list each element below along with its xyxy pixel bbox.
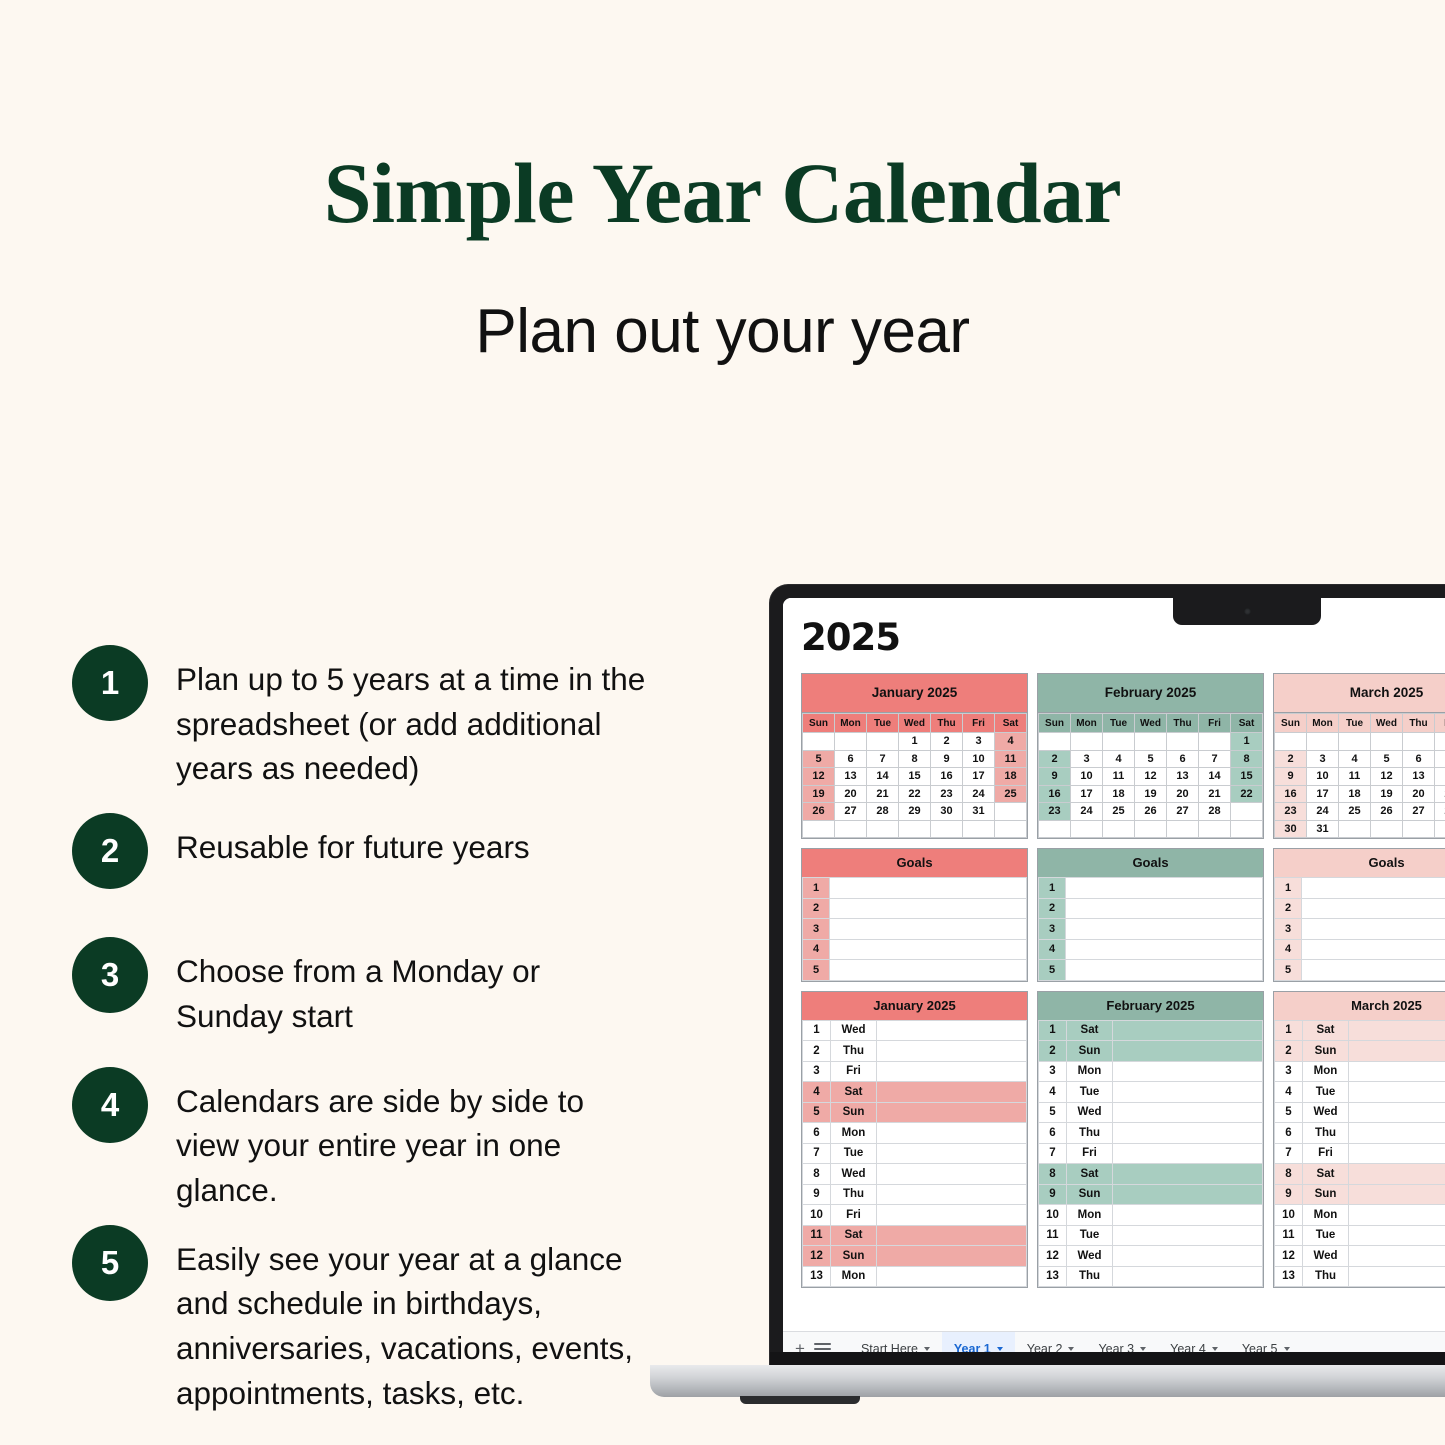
daylist-table: 1Sat2Sun3Mon4Tue5Wed6Thu7Fri8Sat9Sun10Mo… xyxy=(1274,1020,1445,1288)
daylist-note-cell[interactable] xyxy=(1113,1143,1263,1164)
daylist-date: 8 xyxy=(803,1164,831,1185)
date-cell[interactable]: 1 xyxy=(899,733,931,751)
daylist-note-cell[interactable] xyxy=(1349,1061,1445,1082)
daylist-note-cell[interactable] xyxy=(1113,1205,1263,1226)
daylist-date: 11 xyxy=(1275,1225,1303,1246)
daylist-table: 1Wed2Thu3Fri4Sat5Sun6Mon7Tue8Wed9Thu10Fr… xyxy=(802,1020,1027,1288)
daylist-note-cell[interactable] xyxy=(877,1205,1027,1226)
feature-number-badge: 3 xyxy=(72,937,148,1013)
daylist-weekday: Fri xyxy=(1303,1143,1349,1164)
daylist-row: 4Tue xyxy=(1275,1082,1445,1103)
date-cell[interactable]: 30 xyxy=(1275,820,1307,838)
date-cell[interactable]: 14 xyxy=(867,768,899,786)
month-daylist-card: January 20251Wed2Thu3Fri4Sat5Sun6Mon7Tue… xyxy=(801,991,1028,1289)
date-cell[interactable]: 23 xyxy=(931,785,963,803)
date-cell[interactable]: 24 xyxy=(1071,803,1103,821)
date-cell[interactable]: 17 xyxy=(1071,785,1103,803)
daylist-note-cell[interactable] xyxy=(1349,1266,1445,1287)
date-cell[interactable]: 28 xyxy=(1435,803,1445,821)
daylist-note-cell[interactable] xyxy=(1113,1061,1263,1082)
weekday-header: Tue xyxy=(867,714,899,733)
feature-item-4: 4Calendars are side by side to view your… xyxy=(72,1067,672,1213)
date-cell[interactable]: 14 xyxy=(1199,768,1231,786)
daylist-note-cell[interactable] xyxy=(877,1225,1027,1246)
daylist-row: 8Sat xyxy=(1039,1164,1263,1185)
feature-item-3: 3Choose from a Monday or Sunday start xyxy=(72,937,672,1038)
date-cell[interactable]: 14 xyxy=(1435,768,1445,786)
weekday-header: Sun xyxy=(1275,714,1307,733)
date-cell[interactable]: 9 xyxy=(1275,768,1307,786)
goal-input-cell[interactable] xyxy=(1066,939,1263,960)
daylist-weekday: Tue xyxy=(1067,1082,1113,1103)
date-cell[interactable] xyxy=(1071,820,1103,838)
daylist-note-cell[interactable] xyxy=(1349,1246,1445,1267)
goals-row: 2 xyxy=(803,898,1027,919)
daylist-row: 6Mon xyxy=(803,1123,1027,1144)
date-cell[interactable]: 6 xyxy=(1167,750,1199,768)
daylist-date: 3 xyxy=(803,1061,831,1082)
daylist-row: 11Sat xyxy=(803,1225,1027,1246)
daylist-date: 10 xyxy=(1039,1205,1067,1226)
date-cell[interactable]: 15 xyxy=(1231,768,1263,786)
month-calendar-card: March 2025SunMonTueWedThuFriSat123456789… xyxy=(1273,673,1445,839)
date-cell[interactable] xyxy=(803,733,835,751)
sheet-canvas[interactable]: 2025 January 2025SunMonTueWedThuFriSat12… xyxy=(783,598,1445,1331)
date-cell[interactable]: 20 xyxy=(1403,785,1435,803)
date-cell[interactable] xyxy=(1135,820,1167,838)
daylist-date: 13 xyxy=(1039,1266,1067,1287)
goal-number: 5 xyxy=(1039,960,1066,981)
daylist-weekday: Fri xyxy=(1067,1143,1113,1164)
month-grid: SunMonTueWedThuFriSat1234567891011121314… xyxy=(802,713,1027,838)
daylist-row: 1Wed xyxy=(803,1020,1027,1041)
feature-number-badge: 2 xyxy=(72,813,148,889)
date-cell[interactable] xyxy=(1435,733,1445,751)
daylist-weekday: Fri xyxy=(831,1205,877,1226)
date-cell[interactable]: 29 xyxy=(899,803,931,821)
date-cell[interactable]: 27 xyxy=(1403,803,1435,821)
date-cell[interactable] xyxy=(1103,820,1135,838)
date-cell[interactable] xyxy=(1339,733,1371,751)
date-cell[interactable] xyxy=(835,733,867,751)
date-cell[interactable]: 26 xyxy=(1371,803,1403,821)
daylist-date: 12 xyxy=(803,1246,831,1267)
weekday-header: Mon xyxy=(835,714,867,733)
weekday-header: Sun xyxy=(803,714,835,733)
daylist-date: 1 xyxy=(1275,1020,1303,1041)
goal-input-cell[interactable] xyxy=(1302,878,1445,899)
goal-number: 3 xyxy=(1275,919,1302,940)
daylist-weekday: Sat xyxy=(1067,1164,1113,1185)
daylist-row: 9Sun xyxy=(1275,1184,1445,1205)
daylist-date: 2 xyxy=(1039,1041,1067,1062)
daylist-title: January 2025 xyxy=(802,992,1027,1020)
date-cell[interactable]: 9 xyxy=(931,750,963,768)
chevron-down-icon[interactable] xyxy=(924,1347,930,1351)
daylist-note-cell[interactable] xyxy=(1113,1082,1263,1103)
feature-text: Calendars are side by side to view your … xyxy=(176,1067,646,1213)
date-cell[interactable]: 3 xyxy=(963,733,995,751)
date-cell[interactable]: 3 xyxy=(1071,750,1103,768)
date-cell[interactable]: 27 xyxy=(1167,803,1199,821)
daylist-note-cell[interactable] xyxy=(1113,1123,1263,1144)
date-cell[interactable]: 9 xyxy=(1039,768,1071,786)
daylist-weekday: Wed xyxy=(1303,1102,1349,1123)
date-cell[interactable]: 31 xyxy=(963,803,995,821)
month-title: March 2025 xyxy=(1274,674,1445,713)
daylist-weekday: Wed xyxy=(831,1164,877,1185)
goals-row: 5 xyxy=(1275,960,1445,981)
feature-text: Reusable for future years xyxy=(176,813,530,870)
date-cell[interactable] xyxy=(1231,820,1263,838)
daylist-weekday: Thu xyxy=(831,1184,877,1205)
date-cell[interactable]: 20 xyxy=(1167,785,1199,803)
daylist-date: 6 xyxy=(1039,1123,1067,1144)
date-cell[interactable] xyxy=(963,820,995,838)
daylist-note-cell[interactable] xyxy=(1349,1020,1445,1041)
date-cell[interactable]: 15 xyxy=(899,768,931,786)
daylist-date: 3 xyxy=(1275,1061,1303,1082)
date-cell[interactable]: 21 xyxy=(867,785,899,803)
goal-number: 1 xyxy=(803,878,830,899)
date-cell[interactable]: 5 xyxy=(1371,750,1403,768)
date-cell[interactable]: 13 xyxy=(835,768,867,786)
date-cell[interactable]: 25 xyxy=(1103,803,1135,821)
date-cell[interactable] xyxy=(1135,733,1167,751)
goals-row: 2 xyxy=(1275,898,1445,919)
date-cell[interactable]: 16 xyxy=(931,768,963,786)
daylist-note-cell[interactable] xyxy=(877,1184,1027,1205)
daylist-weekday: Thu xyxy=(1067,1123,1113,1144)
goal-input-cell[interactable] xyxy=(830,939,1027,960)
daylist-date: 5 xyxy=(803,1102,831,1123)
goal-input-cell[interactable] xyxy=(1066,898,1263,919)
daylist-note-cell[interactable] xyxy=(1349,1164,1445,1185)
daylist-note-cell[interactable] xyxy=(877,1246,1027,1267)
laptop-base xyxy=(650,1365,1445,1397)
date-cell[interactable]: 19 xyxy=(1135,785,1167,803)
goal-input-cell[interactable] xyxy=(1066,960,1263,981)
daylist-title: February 2025 xyxy=(1038,992,1263,1020)
daylist-note-cell[interactable] xyxy=(877,1123,1027,1144)
date-cell[interactable]: 6 xyxy=(835,750,867,768)
date-cell[interactable]: 5 xyxy=(1135,750,1167,768)
date-cell[interactable]: 13 xyxy=(1403,768,1435,786)
daylist-table: 1Sat2Sun3Mon4Tue5Wed6Thu7Fri8Sat9Sun10Mo… xyxy=(1038,1020,1263,1288)
feature-text: Plan up to 5 years at a time in the spre… xyxy=(176,645,646,791)
date-cell[interactable] xyxy=(1339,820,1371,838)
goal-input-cell[interactable] xyxy=(830,898,1027,919)
date-cell[interactable] xyxy=(1039,820,1071,838)
daylist-date: 11 xyxy=(1039,1225,1067,1246)
daylist-note-cell[interactable] xyxy=(877,1061,1027,1082)
date-cell[interactable]: 5 xyxy=(803,750,835,768)
daylist-row: 1Sat xyxy=(1275,1020,1445,1041)
date-cell[interactable]: 19 xyxy=(1371,785,1403,803)
date-cell[interactable]: 2 xyxy=(931,733,963,751)
date-cell[interactable]: 13 xyxy=(1167,768,1199,786)
daylist-weekday: Sat xyxy=(831,1082,877,1103)
date-cell[interactable]: 16 xyxy=(1039,785,1071,803)
goals-title: Goals xyxy=(802,849,1027,877)
goal-input-cell[interactable] xyxy=(1302,939,1445,960)
daylist-row: 12Sun xyxy=(803,1246,1027,1267)
daylist-date: 8 xyxy=(1039,1164,1067,1185)
year-heading: 2025 xyxy=(801,616,1445,659)
chevron-down-icon[interactable] xyxy=(1140,1347,1146,1351)
daylist-note-cell[interactable] xyxy=(1113,1225,1263,1246)
date-cell[interactable] xyxy=(1167,820,1199,838)
weekday-header: Sat xyxy=(1231,714,1263,733)
goals-row: 4 xyxy=(803,939,1027,960)
date-cell[interactable]: 4 xyxy=(1339,750,1371,768)
date-cell[interactable] xyxy=(995,820,1027,838)
feature-number-badge: 1 xyxy=(72,645,148,721)
daylist-row: 7Fri xyxy=(1275,1143,1445,1164)
date-cell[interactable]: 7 xyxy=(1435,750,1445,768)
daylist-date: 1 xyxy=(1039,1020,1067,1041)
goal-number: 4 xyxy=(1039,939,1066,960)
date-cell[interactable] xyxy=(1167,733,1199,751)
weekday-header: Sat xyxy=(995,714,1027,733)
goal-input-cell[interactable] xyxy=(1302,898,1445,919)
daylist-note-cell[interactable] xyxy=(877,1082,1027,1103)
daylist-weekday: Thu xyxy=(1303,1266,1349,1287)
daylist-note-cell[interactable] xyxy=(1349,1225,1445,1246)
date-cell[interactable] xyxy=(1275,733,1307,751)
daylist-date: 13 xyxy=(1275,1266,1303,1287)
date-cell[interactable]: 25 xyxy=(1339,803,1371,821)
daylist-note-cell[interactable] xyxy=(877,1041,1027,1062)
page-title: Simple Year Calendar xyxy=(0,148,1445,238)
daylist-date: 9 xyxy=(1039,1184,1067,1205)
date-cell[interactable] xyxy=(1199,733,1231,751)
goal-input-cell[interactable] xyxy=(1302,960,1445,981)
date-cell[interactable]: 10 xyxy=(963,750,995,768)
daylist-row: 3Mon xyxy=(1275,1061,1445,1082)
date-cell[interactable] xyxy=(867,820,899,838)
date-cell[interactable]: 27 xyxy=(835,803,867,821)
daylist-note-cell[interactable] xyxy=(1113,1266,1263,1287)
daylist-note-cell[interactable] xyxy=(1113,1020,1263,1041)
goals-table: 12345 xyxy=(802,877,1027,981)
daylist-note-cell[interactable] xyxy=(1113,1184,1263,1205)
goal-number: 1 xyxy=(1275,878,1302,899)
goal-input-cell[interactable] xyxy=(830,960,1027,981)
daylist-date: 7 xyxy=(803,1143,831,1164)
date-cell[interactable]: 22 xyxy=(1231,785,1263,803)
date-cell[interactable]: 6 xyxy=(1403,750,1435,768)
daylist-row: 3Fri xyxy=(803,1061,1027,1082)
daylist-note-cell[interactable] xyxy=(877,1266,1027,1287)
daylist-note-cell[interactable] xyxy=(1349,1205,1445,1226)
daylist-date: 2 xyxy=(1275,1041,1303,1062)
daylist-date: 7 xyxy=(1275,1143,1303,1164)
daylist-note-cell[interactable] xyxy=(1113,1246,1263,1267)
daylist-weekday: Wed xyxy=(1067,1246,1113,1267)
date-cell[interactable]: 12 xyxy=(803,768,835,786)
date-cell[interactable]: 4 xyxy=(1103,750,1135,768)
date-cell[interactable] xyxy=(1307,733,1339,751)
daylist-row: 13Thu xyxy=(1039,1266,1263,1287)
daylist-note-cell[interactable] xyxy=(877,1164,1027,1185)
weekday-header: Thu xyxy=(931,714,963,733)
feature-number-badge: 5 xyxy=(72,1225,148,1301)
date-cell[interactable]: 11 xyxy=(1103,768,1135,786)
goal-input-cell[interactable] xyxy=(830,919,1027,940)
daylist-weekday: Sat xyxy=(1303,1164,1349,1185)
date-cell[interactable]: 4 xyxy=(995,733,1027,751)
goal-input-cell[interactable] xyxy=(1066,919,1263,940)
date-cell[interactable] xyxy=(1103,733,1135,751)
weekday-header: Fri xyxy=(1435,714,1445,733)
daylist-row: 13Thu xyxy=(1275,1266,1445,1287)
goal-input-cell[interactable] xyxy=(1066,878,1263,899)
date-cell[interactable]: 31 xyxy=(1307,820,1339,838)
date-cell[interactable]: 2 xyxy=(1275,750,1307,768)
date-cell[interactable]: 20 xyxy=(835,785,867,803)
daylist-note-cell[interactable] xyxy=(1349,1102,1445,1123)
date-cell[interactable]: 23 xyxy=(1039,803,1071,821)
spreadsheet-app: 2025 January 2025SunMonTueWedThuFriSat12… xyxy=(783,598,1445,1365)
date-cell[interactable]: 2 xyxy=(1039,750,1071,768)
date-cell[interactable] xyxy=(1435,820,1445,838)
date-cell[interactable]: 21 xyxy=(1199,785,1231,803)
date-cell[interactable] xyxy=(931,820,963,838)
date-cell[interactable] xyxy=(1231,803,1263,821)
daylist-note-cell[interactable] xyxy=(877,1143,1027,1164)
weekday-header: Fri xyxy=(1199,714,1231,733)
feature-number-badge: 4 xyxy=(72,1067,148,1143)
date-cell[interactable]: 21 xyxy=(1435,785,1445,803)
daylist-weekday: Sat xyxy=(1303,1020,1349,1041)
date-cell[interactable]: 11 xyxy=(1339,768,1371,786)
date-cell[interactable] xyxy=(1071,733,1103,751)
daylist-date: 13 xyxy=(803,1266,831,1287)
date-cell[interactable] xyxy=(1371,733,1403,751)
date-cell[interactable]: 24 xyxy=(963,785,995,803)
date-cell[interactable]: 12 xyxy=(1371,768,1403,786)
date-cell[interactable]: 18 xyxy=(995,768,1027,786)
daylist-row: 7Tue xyxy=(803,1143,1027,1164)
date-cell[interactable]: 7 xyxy=(867,750,899,768)
date-cell[interactable]: 18 xyxy=(1339,785,1371,803)
feature-list: 1Plan up to 5 years at a time in the spr… xyxy=(72,645,672,1434)
daylist-date: 5 xyxy=(1275,1102,1303,1123)
date-cell[interactable]: 7 xyxy=(1199,750,1231,768)
goals-row: 2 xyxy=(1039,898,1263,919)
chevron-down-icon[interactable] xyxy=(1212,1347,1218,1351)
camera-icon xyxy=(1244,608,1251,615)
date-cell[interactable]: 22 xyxy=(899,785,931,803)
month-calendar-card: January 2025SunMonTueWedThuFriSat1234567… xyxy=(801,673,1028,839)
daylist-row: 3Mon xyxy=(1039,1061,1263,1082)
daylist-row: 5Wed xyxy=(1039,1102,1263,1123)
goals-band: Goals12345Goals12345Goals12345 xyxy=(801,848,1445,982)
daylist-note-cell[interactable] xyxy=(1113,1164,1263,1185)
calendar-band: January 2025SunMonTueWedThuFriSat1234567… xyxy=(801,673,1445,839)
daylist-date: 4 xyxy=(803,1082,831,1103)
month-grid: SunMonTueWedThuFriSat1234567891011121314… xyxy=(1274,713,1445,838)
date-cell[interactable]: 16 xyxy=(1275,785,1307,803)
month-title: January 2025 xyxy=(802,674,1027,713)
date-cell[interactable]: 26 xyxy=(1135,803,1167,821)
date-cell[interactable]: 18 xyxy=(1103,785,1135,803)
daylist-note-cell[interactable] xyxy=(1349,1143,1445,1164)
date-cell[interactable] xyxy=(1403,733,1435,751)
date-cell[interactable]: 8 xyxy=(1231,750,1263,768)
weekday-header: Tue xyxy=(1103,714,1135,733)
daylist-note-cell[interactable] xyxy=(1349,1123,1445,1144)
date-cell[interactable] xyxy=(1403,820,1435,838)
daylist-row: 10Fri xyxy=(803,1205,1027,1226)
chevron-down-icon[interactable] xyxy=(997,1347,1003,1351)
chevron-down-icon[interactable] xyxy=(1284,1347,1290,1351)
date-cell[interactable] xyxy=(1371,820,1403,838)
date-cell[interactable] xyxy=(803,820,835,838)
date-cell[interactable]: 10 xyxy=(1071,768,1103,786)
date-cell[interactable] xyxy=(867,733,899,751)
month-grid: SunMonTueWedThuFriSat1234567891011121314… xyxy=(1038,713,1263,838)
daylist-row: 4Tue xyxy=(1039,1082,1263,1103)
date-cell[interactable]: 28 xyxy=(867,803,899,821)
date-cell[interactable]: 10 xyxy=(1307,768,1339,786)
daylist-note-cell[interactable] xyxy=(1349,1082,1445,1103)
date-cell[interactable]: 1 xyxy=(1231,733,1263,751)
weekday-header: Thu xyxy=(1403,714,1435,733)
date-cell[interactable]: 28 xyxy=(1199,803,1231,821)
goal-input-cell[interactable] xyxy=(1302,919,1445,940)
daylist-date: 5 xyxy=(1039,1102,1067,1123)
date-cell[interactable]: 8 xyxy=(899,750,931,768)
daylist-note-cell[interactable] xyxy=(1113,1102,1263,1123)
date-cell[interactable]: 23 xyxy=(1275,803,1307,821)
daylist-weekday: Sat xyxy=(831,1225,877,1246)
date-cell[interactable] xyxy=(1039,733,1071,751)
daylist-row: 2Sun xyxy=(1275,1041,1445,1062)
date-cell[interactable]: 11 xyxy=(995,750,1027,768)
daylist-date: 4 xyxy=(1039,1082,1067,1103)
weekday-header: Wed xyxy=(899,714,931,733)
chevron-down-icon[interactable] xyxy=(1068,1347,1074,1351)
date-cell[interactable]: 25 xyxy=(995,785,1027,803)
daylist-row: 12Wed xyxy=(1275,1246,1445,1267)
date-cell[interactable]: 17 xyxy=(963,768,995,786)
date-cell[interactable] xyxy=(899,820,931,838)
goal-number: 5 xyxy=(803,960,830,981)
daylist-date: 1 xyxy=(803,1020,831,1041)
daylist-row: 8Sat xyxy=(1275,1164,1445,1185)
date-cell[interactable] xyxy=(1199,820,1231,838)
date-cell[interactable]: 26 xyxy=(803,803,835,821)
date-cell[interactable]: 3 xyxy=(1307,750,1339,768)
daylist-note-cell[interactable] xyxy=(1349,1041,1445,1062)
daylist-note-cell[interactable] xyxy=(877,1020,1027,1041)
date-cell[interactable] xyxy=(995,803,1027,821)
date-cell[interactable]: 12 xyxy=(1135,768,1167,786)
goal-input-cell[interactable] xyxy=(830,878,1027,899)
date-cell[interactable]: 24 xyxy=(1307,803,1339,821)
daylist-weekday: Mon xyxy=(1303,1205,1349,1226)
date-cell[interactable]: 17 xyxy=(1307,785,1339,803)
daylist-note-cell[interactable] xyxy=(1349,1184,1445,1205)
date-cell[interactable]: 30 xyxy=(931,803,963,821)
date-cell[interactable] xyxy=(835,820,867,838)
goal-number: 2 xyxy=(803,898,830,919)
daylist-note-cell[interactable] xyxy=(1113,1041,1263,1062)
date-cell[interactable]: 19 xyxy=(803,785,835,803)
daylist-note-cell[interactable] xyxy=(877,1102,1027,1123)
